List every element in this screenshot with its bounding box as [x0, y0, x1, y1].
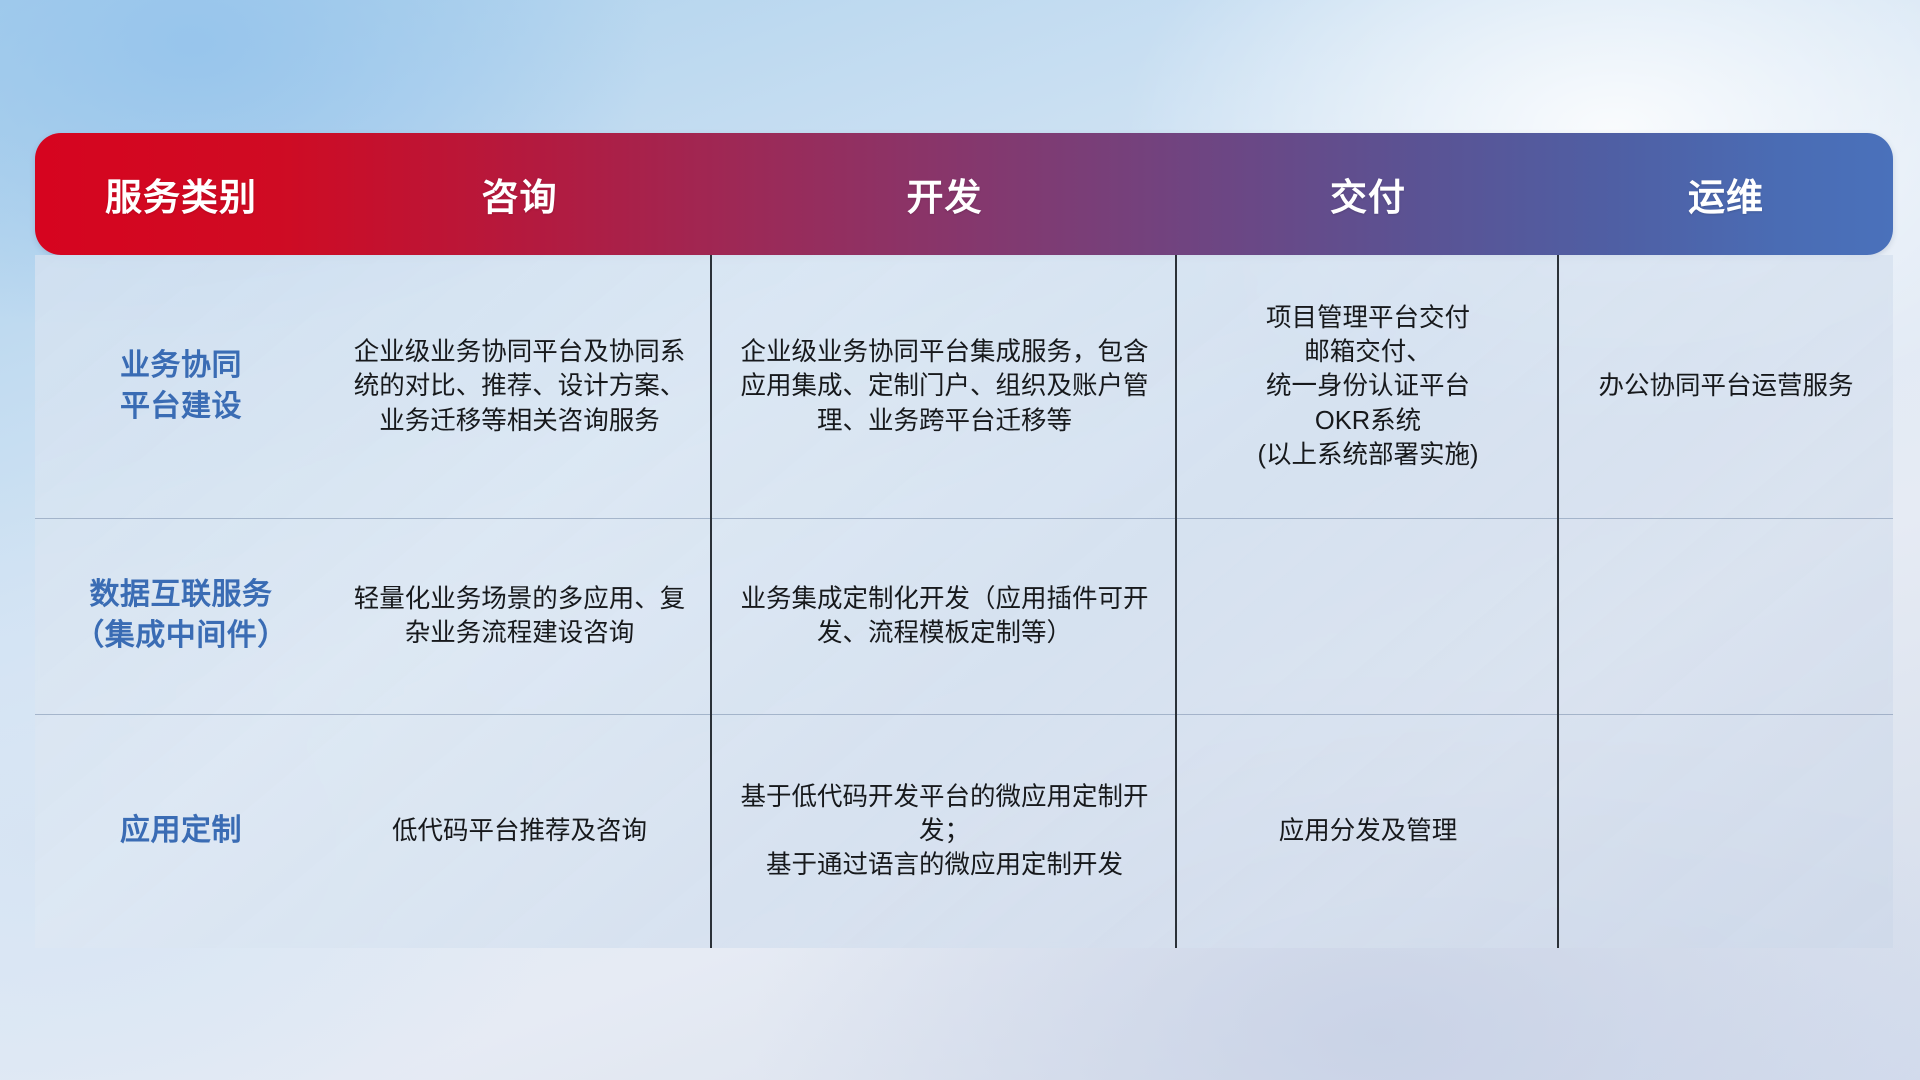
cell-development: 企业级业务协同平台集成服务，包含应用集成、定制门户、组织及账户管理、业务跨平台迁…: [712, 255, 1177, 518]
cell-operations: [1559, 518, 1893, 714]
table-row: 业务协同 平台建设 企业级业务协同平台及协同系统的对比、推荐、设计方案、业务迁移…: [35, 255, 1893, 518]
column-header-consulting: 咨询: [327, 167, 712, 221]
cell-operations: [1559, 714, 1893, 948]
cell-consulting: 企业级业务协同平台及协同系统的对比、推荐、设计方案、业务迁移等相关咨询服务: [327, 255, 712, 518]
column-header-delivery: 交付: [1177, 167, 1559, 221]
cell-consulting: 轻量化业务场景的多应用、复杂业务流程建设咨询: [327, 518, 712, 714]
table-body: 业务协同 平台建设 企业级业务协同平台及协同系统的对比、推荐、设计方案、业务迁移…: [35, 255, 1893, 948]
table-header-row: 服务类别 咨询 开发 交付 运维: [35, 133, 1893, 255]
row-category-label: 业务协同 平台建设: [35, 255, 327, 518]
cell-delivery: 项目管理平台交付 邮箱交付、 统一身份认证平台 OKR系统 (以上系统部署实施): [1177, 255, 1559, 518]
cell-consulting: 低代码平台推荐及咨询: [327, 714, 712, 948]
cell-delivery: 应用分发及管理: [1177, 714, 1559, 948]
column-header-category: 服务类别: [35, 167, 327, 221]
row-category-label: 应用定制: [35, 714, 327, 948]
table-row: 数据互联服务 （集成中间件） 轻量化业务场景的多应用、复杂业务流程建设咨询 业务…: [35, 518, 1893, 714]
column-header-development: 开发: [712, 167, 1177, 221]
table-row: 应用定制 低代码平台推荐及咨询 基于低代码开发平台的微应用定制开发； 基于通过语…: [35, 714, 1893, 948]
cell-development: 业务集成定制化开发（应用插件可开发、流程模板定制等）: [712, 518, 1177, 714]
cell-operations: 办公协同平台运营服务: [1559, 255, 1893, 518]
column-header-operations: 运维: [1559, 167, 1893, 221]
service-matrix-table: 服务类别 咨询 开发 交付 运维 业务协同 平台建设 企业级业务协同平台及协同系…: [35, 133, 1893, 948]
cell-delivery: [1177, 518, 1559, 714]
cell-development: 基于低代码开发平台的微应用定制开发； 基于通过语言的微应用定制开发: [712, 714, 1177, 948]
row-category-label: 数据互联服务 （集成中间件）: [35, 518, 327, 714]
slide-canvas: 服务类别 咨询 开发 交付 运维 业务协同 平台建设 企业级业务协同平台及协同系…: [0, 0, 1920, 1080]
